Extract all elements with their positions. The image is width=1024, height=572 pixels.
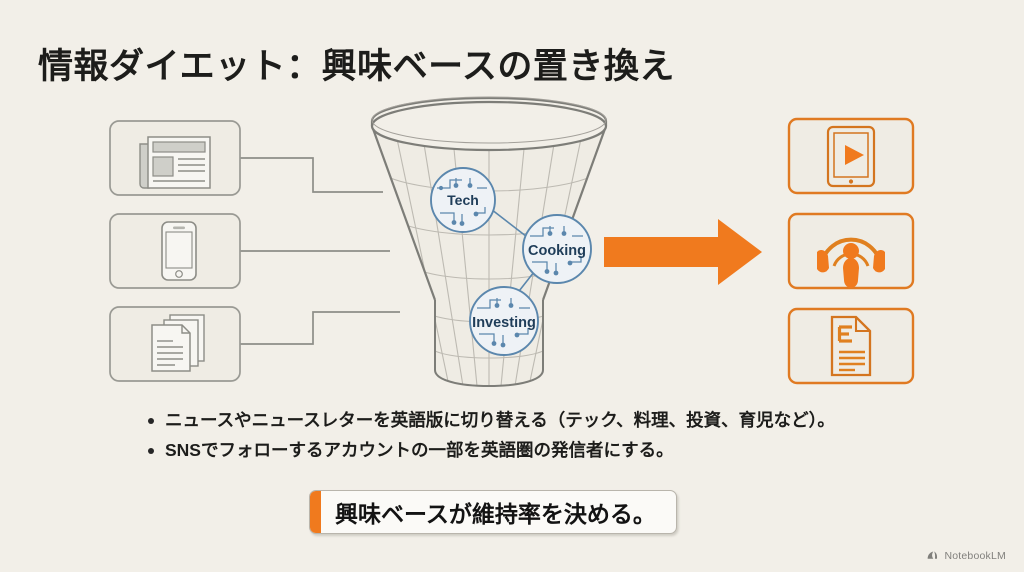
funnel-node-cooking-label: Cooking xyxy=(528,243,586,259)
connector-line-1 xyxy=(240,158,383,192)
slide-canvas: 情報ダイエット：興味ベースの置き換え xyxy=(0,0,1024,572)
watermark-label: NotebookLM xyxy=(944,550,1006,562)
callout-accent-bar xyxy=(310,491,321,533)
bullet-list: ニュースやニュースレターを英語版に切り替える（テック、料理、投資、育児など）。 … xyxy=(148,408,908,468)
input-box-newspaper[interactable] xyxy=(110,121,240,195)
output-box-english-doc[interactable] xyxy=(789,309,913,383)
funnel-node-tech: Tech xyxy=(431,168,495,232)
smartphone-icon xyxy=(162,222,196,280)
notebooklm-logo-icon xyxy=(926,549,939,562)
output-box-podcast[interactable] xyxy=(789,214,913,288)
diagram-graphic: Tech Cooking xyxy=(0,0,1024,572)
list-item: ニュースやニュースレターを英語版に切り替える（テック、料理、投資、育児など）。 xyxy=(148,408,908,433)
connector-lines xyxy=(240,158,400,344)
funnel-node-tech-label: Tech xyxy=(447,192,479,208)
right-arrow-icon xyxy=(604,219,762,285)
bullet-text: SNSでフォローするアカウントの一部を英語圏の発信者にする。 xyxy=(165,438,674,463)
funnel-node-cooking: Cooking xyxy=(523,215,591,283)
funnel-node-investing-label: Investing xyxy=(472,315,536,331)
bullet-text: ニュースやニュースレターを英語版に切り替える（テック、料理、投資、育児など）。 xyxy=(165,408,835,433)
watermark: NotebookLM xyxy=(926,549,1006,562)
callout-text: 興味ベースが維持率を決める。 xyxy=(321,491,676,533)
bullet-marker xyxy=(148,418,154,424)
callout-box: 興味ベースが維持率を決める。 xyxy=(309,490,677,534)
list-item: SNSでフォローするアカウントの一部を英語圏の発信者にする。 xyxy=(148,438,908,463)
connector-line-3 xyxy=(240,312,400,344)
input-box-documents[interactable] xyxy=(110,307,240,381)
newspaper-icon xyxy=(140,137,210,188)
funnel-node-investing: Investing xyxy=(470,287,538,355)
bullet-marker xyxy=(148,448,154,454)
input-box-smartphone[interactable] xyxy=(110,214,240,288)
output-box-video[interactable] xyxy=(789,119,913,193)
